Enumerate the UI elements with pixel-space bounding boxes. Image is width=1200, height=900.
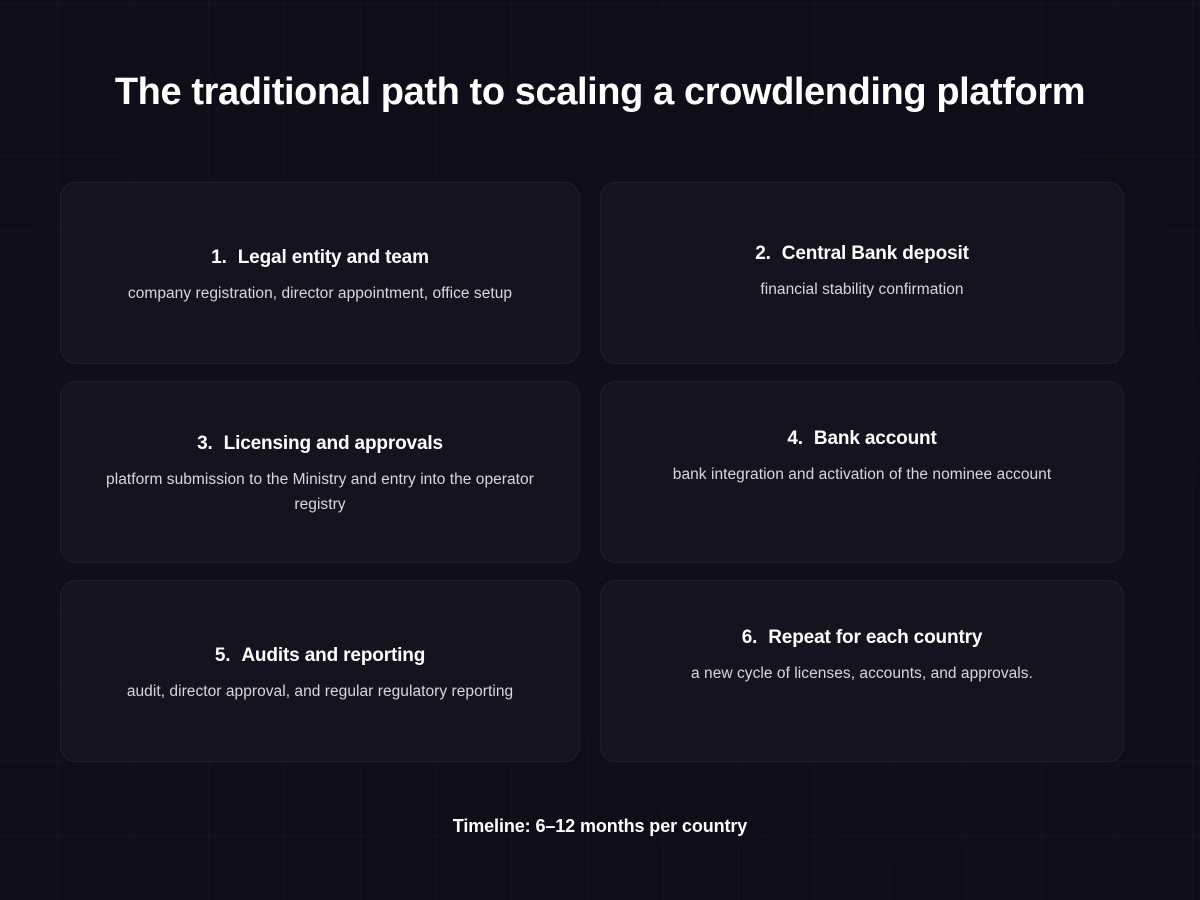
step-card-5[interactable]: 5. Audits and reporting audit, director …	[60, 580, 580, 762]
step-description-3: platform submission to the Ministry and …	[105, 467, 535, 517]
step-number-3: 3.	[197, 431, 213, 457]
step-title-4: 4. Bank account	[787, 426, 936, 452]
step-number-1: 1.	[211, 245, 227, 271]
step-number-2: 2.	[755, 241, 771, 267]
step-card-4[interactable]: 4. Bank account bank integration and act…	[600, 381, 1124, 563]
slide-container: The traditional path to scaling a crowdl…	[0, 0, 1200, 900]
step-heading-3: Licensing and approvals	[224, 431, 443, 457]
step-heading-5: Audits and reporting	[241, 643, 425, 669]
step-title-5: 5. Audits and reporting	[215, 643, 425, 669]
steps-grid: 1. Legal entity and team company registr…	[60, 182, 1124, 762]
step-title-1: 1. Legal entity and team	[211, 245, 429, 271]
step-number-5: 5.	[215, 643, 231, 669]
step-card-3[interactable]: 3. Licensing and approvals platform subm…	[60, 381, 580, 563]
step-number-4: 4.	[787, 426, 803, 452]
step-description-5: audit, director approval, and regular re…	[127, 679, 513, 704]
step-card-2[interactable]: 2. Central Bank deposit financial stabil…	[600, 182, 1124, 364]
step-title-6: 6. Repeat for each country	[742, 625, 983, 651]
step-description-4: bank integration and activation of the n…	[673, 462, 1051, 487]
step-number-6: 6.	[742, 625, 758, 651]
step-title-2: 2. Central Bank deposit	[755, 241, 969, 267]
step-description-6: a new cycle of licenses, accounts, and a…	[691, 661, 1033, 686]
step-heading-1: Legal entity and team	[238, 245, 429, 271]
step-heading-6: Repeat for each country	[768, 625, 982, 651]
step-card-1[interactable]: 1. Legal entity and team company registr…	[60, 182, 580, 364]
step-heading-4: Bank account	[814, 426, 937, 452]
step-card-6[interactable]: 6. Repeat for each country a new cycle o…	[600, 580, 1124, 762]
step-heading-2: Central Bank deposit	[782, 241, 969, 267]
step-title-3: 3. Licensing and approvals	[197, 431, 443, 457]
page-title: The traditional path to scaling a crowdl…	[60, 66, 1140, 118]
step-description-2: financial stability confirmation	[760, 277, 963, 302]
step-description-1: company registration, director appointme…	[128, 281, 512, 306]
timeline-footer: Timeline: 6–12 months per country	[60, 812, 1140, 840]
